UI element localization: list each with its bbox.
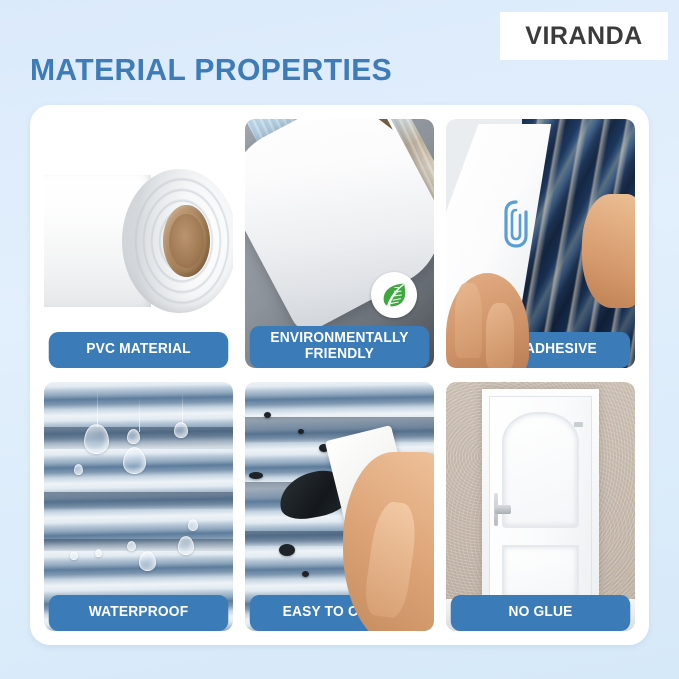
water-droplet-1 [84,424,109,454]
card-environmentally-friendly[interactable]: ENVIRONMENTALLY FRIENDLY [245,119,434,368]
stain-dot-1 [264,412,271,418]
card-self-adhesive[interactable]: SELF-ADHESIVE [446,119,635,368]
card-label-no-glue: NO GLUE [451,595,631,631]
stain-dot-6 [302,571,309,577]
no-glue-image [446,382,635,631]
water-droplet-5 [74,464,83,475]
pvc-roll-shape [44,169,233,313]
door-handle [495,505,511,513]
self-adhesive-image [446,119,635,368]
water-droplet-8 [139,551,156,571]
green-leaf-badge [371,272,417,318]
texture-band-2 [44,492,233,509]
card-label-waterproof: WATERPROOF [49,595,229,631]
roll-cut-edge [352,119,393,140]
leaf-icon [379,280,409,310]
stain-dot-4 [249,472,263,479]
card-no-glue[interactable]: NO GLUE [446,382,635,631]
droplet-trail-3 [182,392,184,424]
door-frame [482,389,599,608]
droplet-trail-2 [139,397,141,432]
cards-panel: PVC MATERIAL [30,105,649,645]
water-droplet-7 [178,536,194,555]
left-hand-finger-2 [486,303,514,368]
page-title: MATERIAL PROPERTIES [30,52,392,88]
left-hand-finger-1 [455,283,481,358]
infographic-page: VIRANDA MATERIAL PROPERTIES PVC MATERIAL [0,0,679,679]
door-leaf [489,396,592,606]
pvc-roll-image [44,119,233,368]
card-label-pvc-material: PVC MATERIAL [49,332,229,368]
brand-name: VIRANDA [525,22,642,51]
water-droplet-6 [188,519,198,531]
paperclip-icon [501,196,531,252]
pvc-core-inner [169,214,204,269]
water-droplet-10 [95,549,102,557]
brand-logo-box: VIRANDA [500,12,668,60]
card-label-environmentally-friendly: ENVIRONMENTALLY FRIENDLY [250,326,430,368]
droplet-trail-1 [97,387,99,427]
card-waterproof[interactable]: WATERPROOF [44,382,233,631]
card-easy-to-clean[interactable]: EASY TO CLEAN [245,382,434,631]
door-panel-top [502,412,579,529]
card-pvc-material[interactable]: PVC MATERIAL [44,119,233,368]
door-hinge [574,422,583,427]
texture-band-3 [44,539,233,551]
door-panel-bottom [502,545,579,599]
water-droplet-2 [127,429,140,444]
easy-to-clean-image [245,382,434,631]
stain-dot-5 [279,544,295,556]
cards-grid: PVC MATERIAL [44,119,635,631]
waterproof-image [44,382,233,631]
right-hand [582,194,635,309]
